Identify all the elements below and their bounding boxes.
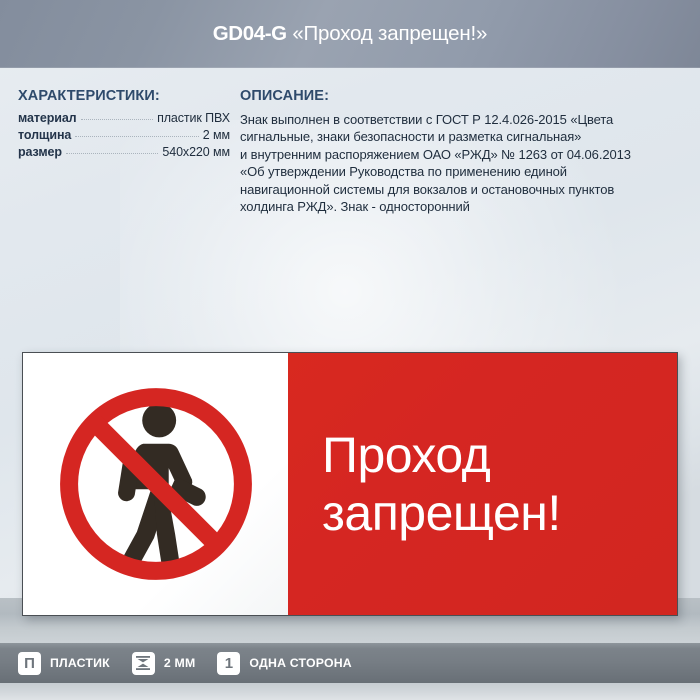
footer-item-thickness: 2 ММ — [132, 652, 196, 675]
one-side-icon: 1 — [217, 652, 240, 675]
no-pedestrian-prohibition-icon — [50, 378, 262, 590]
spec-leader-dots — [81, 119, 154, 120]
spec-leader-dots — [75, 136, 199, 137]
footer-item-sides: 1 ОДНА СТОРОНА — [217, 652, 351, 675]
thickness-gauge-glyph — [135, 655, 151, 671]
product-code: GD04-G — [213, 22, 287, 45]
footer-bar: П ПЛАСТИК 2 ММ 1 ОДНА СТОРОНА — [0, 643, 700, 683]
plastic-material-icon: П — [18, 652, 41, 675]
sign-text-line: запрещен! — [322, 484, 561, 542]
thickness-gauge-icon — [132, 652, 155, 675]
description-line: холдинга РЖД». Знак - односторонний — [240, 198, 690, 215]
sign-text-line: Проход — [322, 426, 561, 484]
sign-text-panel: Проход запрещен! — [288, 353, 677, 615]
sign-pictogram-area — [23, 353, 288, 615]
sign-text: Проход запрещен! — [322, 426, 561, 542]
spec-label: толщина — [18, 128, 71, 142]
description-heading: ОПИСАНИЕ: — [240, 88, 690, 104]
description-line: навигационной системы для вокзалов и ост… — [240, 181, 690, 198]
footer-bottom-strip — [0, 683, 700, 700]
sign-preview[interactable]: Проход запрещен! — [22, 352, 678, 616]
description-line: «Об утверждении Руководства по применени… — [240, 163, 690, 180]
spec-value: 540x220 мм — [162, 145, 230, 159]
spec-value: 2 мм — [203, 128, 230, 142]
footer-label-material: ПЛАСТИК — [50, 656, 110, 670]
sides-badge-number: 1 — [225, 656, 233, 671]
footer-label-sides: ОДНА СТОРОНА — [249, 656, 351, 670]
plastic-badge-letter: П — [24, 656, 35, 671]
spec-value: пластик ПВХ — [157, 111, 230, 125]
spec-label: размер — [18, 145, 62, 159]
description-line: Знак выполнен в соответствии с ГОСТ Р 12… — [240, 111, 690, 128]
description-line: сигнальные, знаки безопасности и разметк… — [240, 128, 690, 145]
footer-label-thickness: 2 ММ — [164, 656, 196, 670]
spec-row-material: материал пластик ПВХ — [18, 111, 230, 125]
spec-leader-dots — [66, 153, 158, 154]
product-card-page: GD04-G «Проход запрещен!» ХАРАКТЕРИСТИКИ… — [0, 0, 700, 700]
description-block: ОПИСАНИЕ: Знак выполнен в соответствии с… — [240, 88, 690, 215]
page-title: GD04-G «Проход запрещен!» — [0, 22, 700, 46]
footer-item-material: П ПЛАСТИК — [18, 652, 110, 675]
spec-label: материал — [18, 111, 77, 125]
specifications-block: ХАРАКТЕРИСТИКИ: материал пластик ПВХ тол… — [18, 88, 230, 162]
spec-row-thickness: толщина 2 мм — [18, 128, 230, 142]
header-bar: GD04-G «Проход запрещен!» — [0, 0, 700, 68]
spec-row-size: размер 540x220 мм — [18, 145, 230, 159]
product-name: «Проход запрещен!» — [292, 22, 487, 45]
specifications-heading: ХАРАКТЕРИСТИКИ: — [18, 88, 230, 104]
description-text: Знак выполнен в соответствии с ГОСТ Р 12… — [240, 111, 690, 215]
description-line: и внутренним распоряжением ОАО «РЖД» № 1… — [240, 146, 690, 163]
